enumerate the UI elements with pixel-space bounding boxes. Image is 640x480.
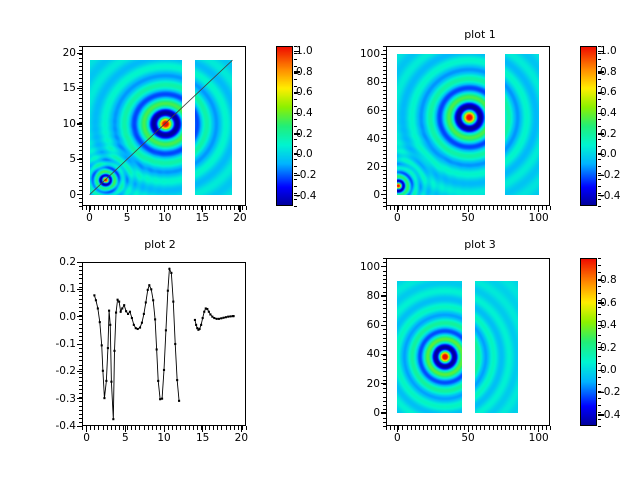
panel-bottom-right-colorbar-tick-minor bbox=[598, 377, 601, 378]
panel-bottom-right-ytick-minor bbox=[383, 296, 387, 297]
panel-bottom-right-xtick-minor bbox=[497, 426, 498, 430]
panel-bottom-right-xtick-minor bbox=[538, 426, 539, 430]
panel-bottom-right-data-region bbox=[475, 281, 518, 413]
panel-bottom-right-colorbar-tick-mark bbox=[598, 325, 604, 326]
panel-bottom-right-xtick-minor bbox=[464, 426, 465, 430]
panel-bottom-right-ytick-minor bbox=[383, 271, 387, 272]
panel-bottom-right-colorbar-tick-minor bbox=[598, 405, 601, 406]
panel-bottom-right-ytick-minor bbox=[383, 422, 387, 423]
panel-bottom-right-ytick-minor bbox=[383, 338, 387, 339]
panel-bottom-right-xtick-minor bbox=[427, 426, 428, 430]
panel-bottom-right-colorbar-tick-minor bbox=[598, 272, 601, 273]
panel-bottom-right-xtick-minor bbox=[415, 426, 416, 430]
panel-bottom-right-xtick-minor bbox=[452, 426, 453, 430]
panel-bottom-right-xtick-minor bbox=[505, 426, 506, 430]
panel-bottom-right-colorbar-tick-minor bbox=[598, 328, 601, 329]
panel-bottom-right-colorbar-tick-minor bbox=[598, 363, 601, 364]
panel-bottom-right-colorbar-tick-minor bbox=[598, 356, 601, 357]
panel-bottom-right-colorbar-tick-minor bbox=[598, 384, 601, 385]
panel-bottom-right-xtick-minor bbox=[390, 426, 391, 430]
panel-bottom-right-xtick-minor bbox=[386, 426, 387, 430]
panel-bottom-right-xtick-minor bbox=[402, 426, 403, 430]
panel-bottom-right-xtick-minor bbox=[443, 426, 444, 430]
panel-bottom-right-colorbar-tick-mark bbox=[598, 302, 604, 303]
panel-bottom-right-colorbar-tick-minor bbox=[598, 307, 601, 308]
panel-bottom-right-xtick-minor bbox=[513, 426, 514, 430]
panel-bottom-right-xtick-minor bbox=[398, 426, 399, 430]
panel-bottom-right-xtick-minor bbox=[542, 426, 543, 430]
panel-bottom-right-ytick-minor bbox=[383, 325, 387, 326]
panel-bottom-right-xtick-minor bbox=[534, 426, 535, 430]
panel-bottom-right-colorbar-tick-minor bbox=[598, 279, 601, 280]
panel-bottom-right-colorbar-tick-minor bbox=[598, 370, 601, 371]
panel-bottom-right-ytick-minor bbox=[383, 300, 387, 301]
panel-bottom-right-xtick-minor bbox=[423, 426, 424, 430]
panel-bottom-right-ytick-minor bbox=[383, 397, 387, 398]
figure-canvas: 05101520051015201.00.80.60.40.20.0-0.2-0… bbox=[0, 0, 640, 480]
panel-bottom-right-xtick-minor bbox=[431, 426, 432, 430]
panel-bottom-right-ytick-minor bbox=[383, 346, 387, 347]
panel-bottom-right-colorbar-tick-minor bbox=[598, 265, 601, 266]
panel-bottom-right-ytick-minor bbox=[383, 321, 387, 322]
panel-bottom-right-ytick-minor bbox=[383, 392, 387, 393]
panel-bottom-right-xtick-minor bbox=[394, 426, 395, 430]
panel-bottom-right-xtick-minor bbox=[493, 426, 494, 430]
panel-bottom-right-ytick-minor bbox=[383, 334, 387, 335]
panel-bottom-right-colorbar-tick-mark bbox=[598, 280, 604, 281]
panel-bottom-right-xtick-minor bbox=[501, 426, 502, 430]
panel-bottom-right-xtick-minor bbox=[468, 426, 469, 430]
panel-bottom-right-xtick-minor bbox=[448, 426, 449, 430]
panel-bottom-right: plot 30204060801000501000.80.60.40.20.0-… bbox=[0, 0, 640, 480]
panel-bottom-right-colorbar-tick-minor bbox=[598, 342, 601, 343]
panel-bottom-right-colorbar-tick-minor bbox=[598, 293, 601, 294]
panel-bottom-right-ytick-minor bbox=[383, 258, 387, 259]
panel-bottom-right-colorbar-tick-minor bbox=[598, 412, 601, 413]
panel-bottom-right-xtick-minor bbox=[509, 426, 510, 430]
panel-bottom-right-ytick-label: 0 bbox=[334, 407, 380, 419]
panel-bottom-right-colorbar bbox=[580, 258, 597, 426]
panel-bottom-right-xtick-minor bbox=[480, 426, 481, 430]
panel-bottom-right-xtick-minor bbox=[407, 426, 408, 430]
panel-bottom-right-ytick-minor bbox=[383, 279, 387, 280]
panel-bottom-right-ytick-minor bbox=[383, 409, 387, 410]
panel-bottom-right-ytick-minor bbox=[383, 376, 387, 377]
panel-bottom-right-ytick-label: 100 bbox=[334, 261, 380, 273]
panel-bottom-right-colorbar-tick-minor bbox=[598, 426, 601, 427]
panel-bottom-right-xtick-minor bbox=[517, 426, 518, 430]
panel-bottom-right-ytick-minor bbox=[383, 342, 387, 343]
panel-bottom-right-ytick-minor bbox=[383, 401, 387, 402]
panel-bottom-right-ytick-minor bbox=[383, 283, 387, 284]
panel-bottom-right-xtick-minor bbox=[411, 426, 412, 430]
panel-bottom-right-xtick-label: 100 bbox=[529, 432, 549, 444]
panel-bottom-right-xtick-minor bbox=[489, 426, 490, 430]
panel-bottom-right-xtick-minor bbox=[439, 426, 440, 430]
panel-bottom-right-colorbar-tick-mark bbox=[598, 414, 604, 415]
panel-bottom-right-ytick-minor bbox=[383, 355, 387, 356]
panel-bottom-right-xtick-minor bbox=[484, 426, 485, 430]
panel-bottom-right-colorbar-tick-minor bbox=[598, 419, 601, 420]
panel-bottom-right-ytick-minor bbox=[383, 380, 387, 381]
panel-bottom-right-ytick-label: 40 bbox=[334, 348, 380, 360]
panel-bottom-right-xtick-minor bbox=[435, 426, 436, 430]
panel-bottom-right-ytick-minor bbox=[383, 367, 387, 368]
panel-bottom-right-ytick-minor bbox=[383, 262, 387, 263]
panel-bottom-right-ytick-minor bbox=[383, 388, 387, 389]
panel-bottom-right-ytick-minor bbox=[383, 363, 387, 364]
panel-bottom-right-ytick-minor bbox=[383, 313, 387, 314]
panel-bottom-right-ytick-minor bbox=[383, 359, 387, 360]
panel-bottom-right-xtick-label: 50 bbox=[461, 432, 474, 444]
panel-bottom-right-colorbar-tick-minor bbox=[598, 349, 601, 350]
panel-bottom-right-ytick-minor bbox=[383, 371, 387, 372]
panel-bottom-right-ytick-minor bbox=[383, 304, 387, 305]
panel-bottom-right-colorbar-tick-minor bbox=[598, 286, 601, 287]
panel-bottom-right-colorbar-tick-minor bbox=[598, 398, 601, 399]
panel-bottom-right-ytick-minor bbox=[383, 275, 387, 276]
panel-bottom-right-xtick-minor bbox=[456, 426, 457, 430]
panel-bottom-right-colorbar-tick-minor bbox=[598, 300, 601, 301]
panel-bottom-right-ytick-label: 80 bbox=[334, 290, 380, 302]
panel-bottom-right-xtick-minor bbox=[550, 426, 551, 430]
panel-bottom-right-xtick-minor bbox=[460, 426, 461, 430]
panel-bottom-right-ytick-minor bbox=[383, 308, 387, 309]
panel-bottom-right-ytick-label: 20 bbox=[334, 378, 380, 390]
panel-bottom-right-colorbar-tick-mark bbox=[598, 392, 604, 393]
panel-bottom-right-ytick-minor bbox=[383, 292, 387, 293]
panel-bottom-right-xtick-minor bbox=[476, 426, 477, 430]
panel-bottom-right-colorbar-tick-minor bbox=[598, 314, 601, 315]
panel-bottom-right-ytick-minor bbox=[383, 413, 387, 414]
panel-bottom-right-ytick-minor bbox=[383, 350, 387, 351]
panel-bottom-right-ytick-minor bbox=[383, 317, 387, 318]
panel-bottom-right-xtick-minor bbox=[472, 426, 473, 430]
panel-bottom-right-xtick-minor bbox=[419, 426, 420, 430]
panel-bottom-right-ytick-minor bbox=[383, 384, 387, 385]
panel-bottom-right-ytick-label: 60 bbox=[334, 319, 380, 331]
panel-bottom-right-data-region bbox=[397, 281, 462, 413]
panel-bottom-right-ytick-minor bbox=[383, 287, 387, 288]
panel-bottom-right-ytick-minor bbox=[383, 329, 387, 330]
panel-bottom-right-xtick-minor bbox=[521, 426, 522, 430]
panel-bottom-right-xtick-minor bbox=[530, 426, 531, 430]
panel-bottom-right-colorbar-tick-minor bbox=[598, 335, 601, 336]
panel-bottom-right-ytick-minor bbox=[383, 418, 387, 419]
panel-bottom-right-xtick-label: 0 bbox=[394, 432, 401, 444]
panel-bottom-right-xtick-minor bbox=[546, 426, 547, 430]
panel-bottom-right-ytick-minor bbox=[383, 266, 387, 267]
panel-bottom-right-colorbar-tick-minor bbox=[598, 321, 601, 322]
panel-bottom-right-xtick-minor bbox=[525, 426, 526, 430]
panel-bottom-right-colorbar-tick-minor bbox=[598, 258, 601, 259]
panel-bottom-right-title: plot 3 bbox=[320, 238, 640, 251]
panel-bottom-right-ytick-minor bbox=[383, 405, 387, 406]
panel-bottom-right-colorbar-tick-minor bbox=[598, 391, 601, 392]
